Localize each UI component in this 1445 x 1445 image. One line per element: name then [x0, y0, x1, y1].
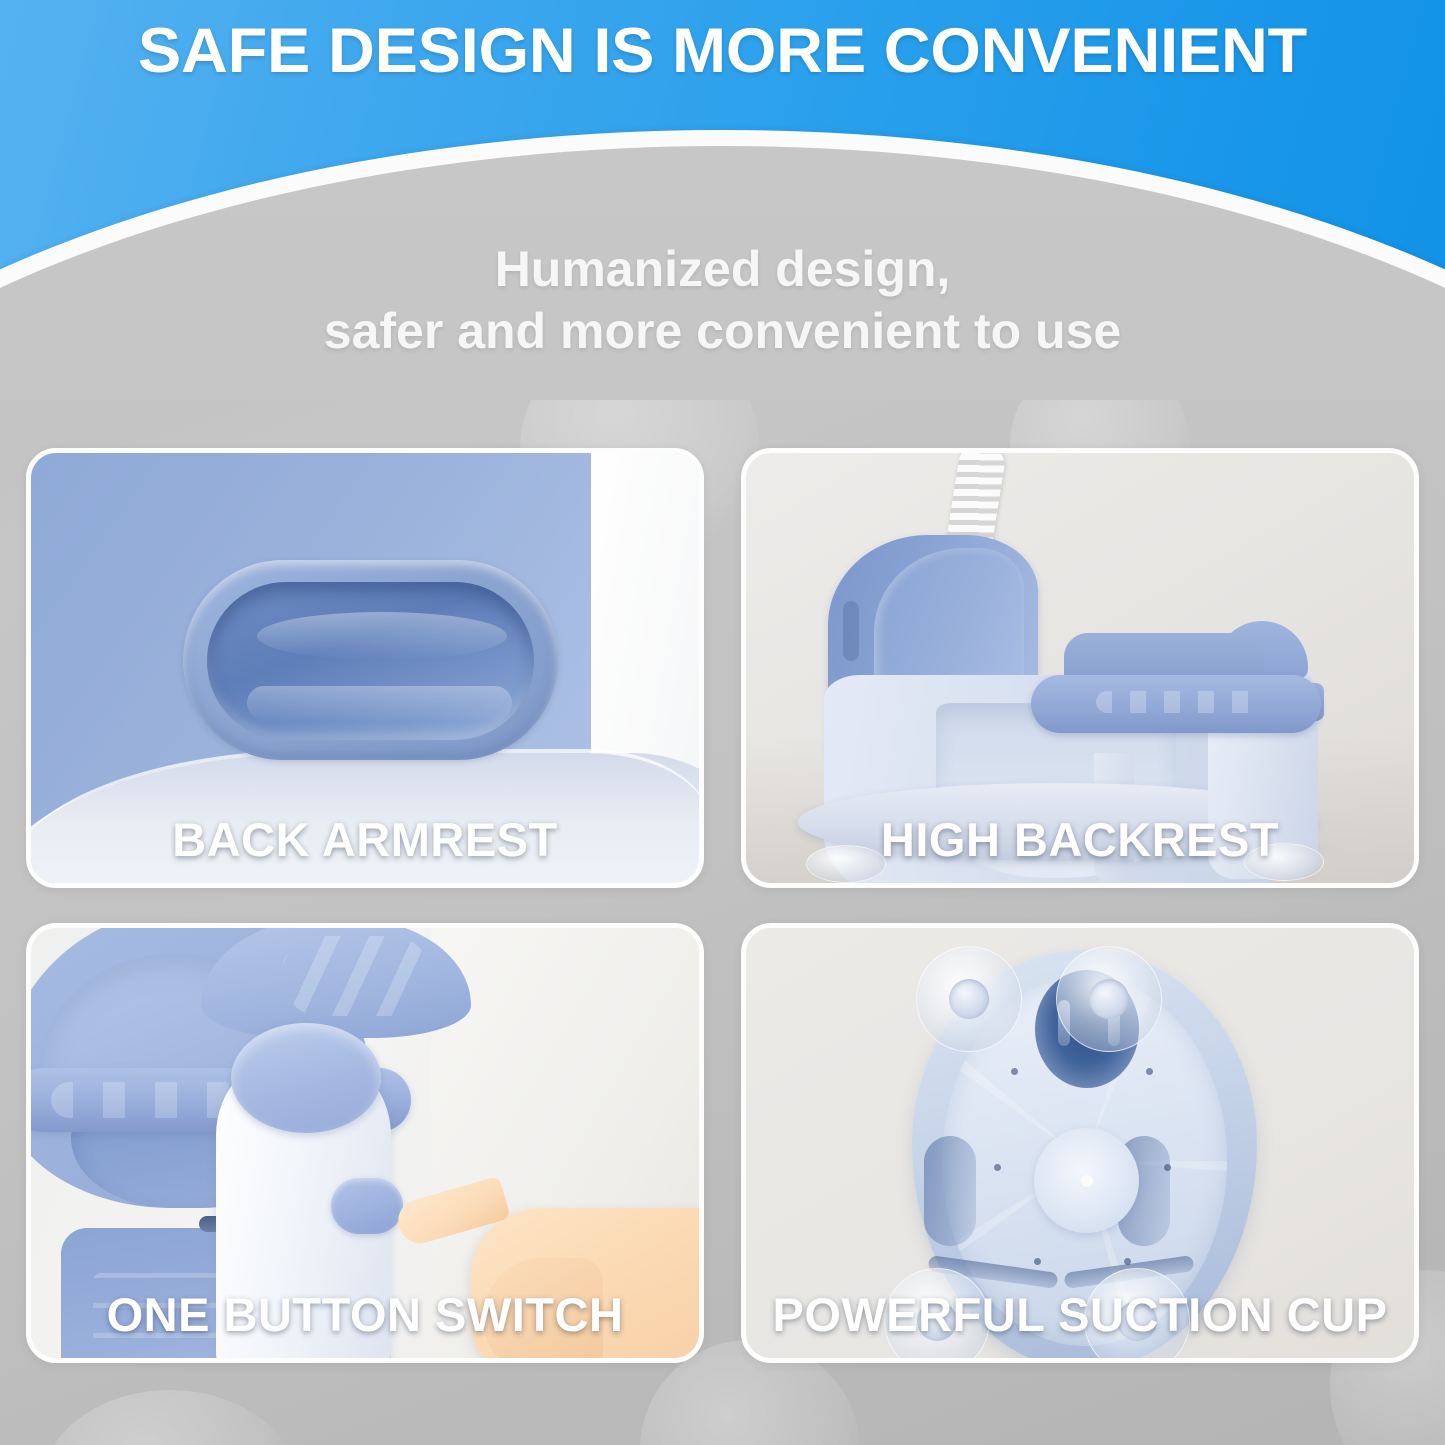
background-blob — [40, 1390, 300, 1445]
feature-panel-grid: BACK ARMREST — [26, 448, 1419, 1363]
page-title: SAFE DESIGN IS MORE CONVENIENT — [0, 14, 1445, 88]
panel-label-powerful-suction-cup: POWERFUL SUCTION CUP — [746, 1287, 1414, 1342]
panel-label-back-armrest: BACK ARMREST — [31, 812, 699, 867]
subtitle-line-1: Humanized design, — [0, 238, 1445, 300]
panel-label-high-backrest: HIGH BACKREST — [746, 812, 1414, 867]
page-subtitle: Humanized design, safer and more conveni… — [0, 238, 1445, 362]
subtitle-line-2: safer and more convenient to use — [0, 300, 1445, 362]
suction-cup-icon — [916, 946, 1022, 1052]
product-infographic: SAFE DESIGN IS MORE CONVENIENT Humanized… — [0, 0, 1445, 1445]
suction-cup-icon — [1056, 946, 1162, 1052]
feature-panel-powerful-suction-cup[interactable]: POWERFUL SUCTION CUP — [741, 923, 1419, 1363]
feature-panel-high-backrest[interactable]: HIGH BACKREST — [741, 448, 1419, 888]
switch-button-icon — [331, 1178, 403, 1234]
release-button-icon — [231, 1023, 381, 1133]
feature-panel-back-armrest[interactable]: BACK ARMREST — [26, 448, 704, 888]
feature-panel-one-button-switch[interactable]: ONE BUTTON SWITCH — [26, 923, 704, 1363]
armrest-recess-icon — [183, 560, 558, 760]
panel-label-one-button-switch: ONE BUTTON SWITCH — [31, 1287, 699, 1342]
